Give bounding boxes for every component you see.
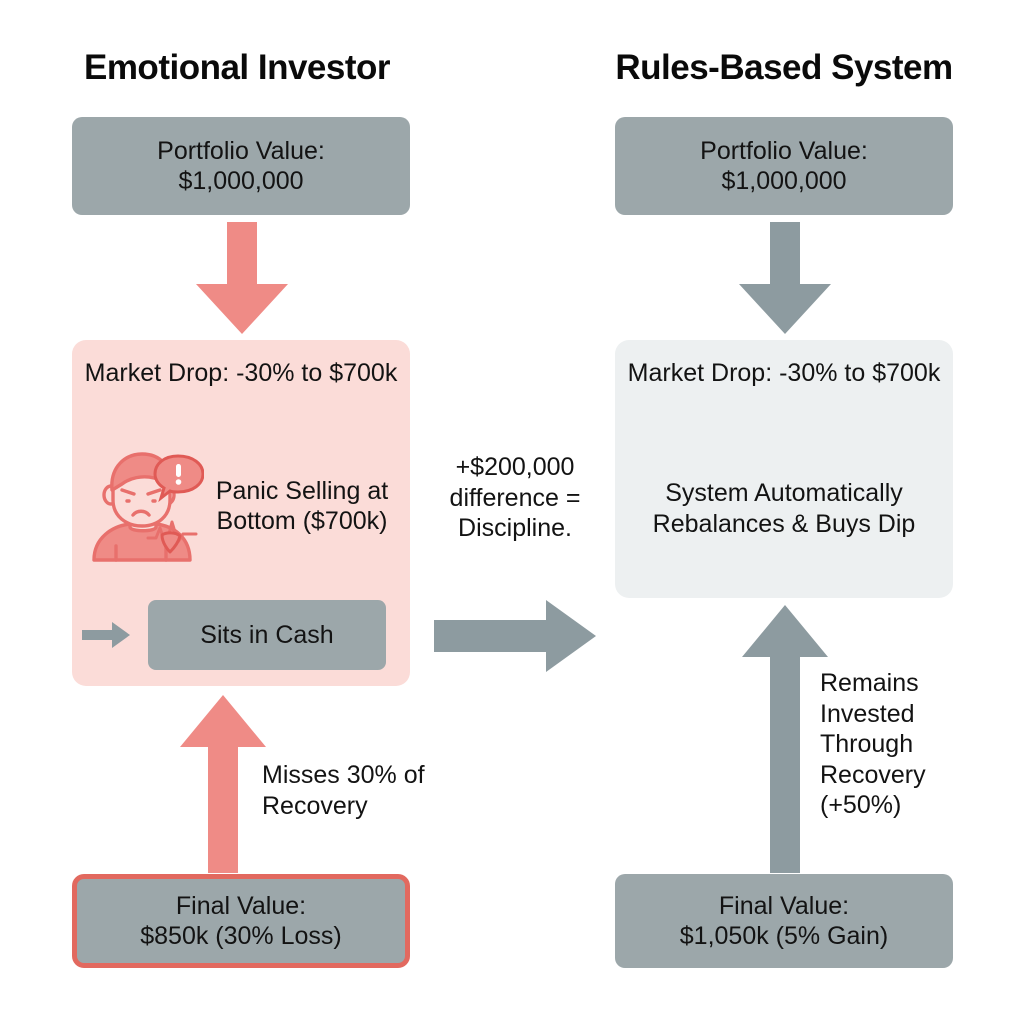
left-portfolio-amount: $1,000,000 bbox=[178, 166, 303, 197]
left-panel-heading-line1: Market Drop: bbox=[85, 359, 229, 387]
right-portfolio-amount: $1,000,000 bbox=[721, 166, 846, 197]
right-panel-body-line1: System Automatically bbox=[665, 479, 903, 507]
right-up-arrow-icon bbox=[742, 605, 828, 873]
worried-person-icon bbox=[86, 450, 204, 562]
column-title-emotional-investor: Emotional Investor bbox=[62, 48, 412, 88]
column-title-rules-based-system: Rules-Based System bbox=[598, 48, 970, 88]
remains-invested-line2: Invested bbox=[820, 700, 915, 728]
remains-invested-line4: Recovery bbox=[820, 761, 926, 789]
left-up-arrow-icon bbox=[180, 695, 266, 873]
left-panel-heading: Market Drop: -30% to $700k bbox=[72, 358, 410, 389]
center-difference-label: +$200,000 difference = Discipline. bbox=[424, 452, 606, 544]
center-right-arrow-icon bbox=[434, 600, 596, 672]
left-portfolio-value-box: Portfolio Value: $1,000,000 bbox=[72, 117, 410, 215]
remains-invested-line1: Remains bbox=[820, 669, 919, 697]
right-final-value-label: Final Value: bbox=[719, 891, 849, 922]
right-panel-heading-line2: -30% to $700k bbox=[779, 359, 940, 387]
panic-line-3: ($700k) bbox=[303, 507, 388, 535]
sits-in-cash-label: Sits in Cash bbox=[200, 620, 333, 651]
right-panel-body-line2: Rebalances & Buys Dip bbox=[653, 510, 916, 538]
remains-invested-label: Remains Invested Through Recovery (+50%) bbox=[820, 668, 960, 821]
diagram-canvas: Emotional Investor Rules-Based System Po… bbox=[0, 0, 1024, 1024]
panic-line-1: Panic Selling bbox=[216, 477, 361, 505]
left-panel-heading-line2: -30% to $700k bbox=[236, 359, 397, 387]
panic-selling-row: Panic Selling at Bottom ($700k) bbox=[86, 450, 396, 562]
left-down-arrow-icon bbox=[196, 222, 288, 334]
right-panel-body: System Automatically Rebalances & Buys D… bbox=[623, 478, 945, 541]
right-panel-heading-line1: Market Drop: bbox=[628, 359, 772, 387]
misses-recovery-line1: Misses 30% bbox=[262, 761, 397, 789]
right-panel-heading: Market Drop: -30% to $700k bbox=[615, 358, 953, 389]
right-scenario-panel: Market Drop: -30% to $700k System Automa… bbox=[615, 340, 953, 598]
sits-in-cash-arrow-icon bbox=[82, 622, 130, 648]
right-down-arrow-icon bbox=[739, 222, 831, 334]
center-difference-line1: +$200,000 bbox=[456, 453, 575, 481]
remains-invested-line5: (+50%) bbox=[820, 791, 901, 819]
right-final-value-amount: $1,050k (5% Gain) bbox=[680, 921, 888, 952]
right-final-value-box: Final Value: $1,050k (5% Gain) bbox=[615, 874, 953, 968]
left-final-value-amount: $850k (30% Loss) bbox=[140, 921, 342, 952]
right-portfolio-label: Portfolio Value: bbox=[700, 136, 868, 167]
remains-invested-line3: Through bbox=[820, 730, 913, 758]
right-portfolio-value-box: Portfolio Value: $1,000,000 bbox=[615, 117, 953, 215]
misses-recovery-label: Misses 30% of Recovery bbox=[262, 760, 442, 821]
panic-selling-label: Panic Selling at Bottom ($700k) bbox=[208, 476, 396, 537]
center-difference-line2: difference bbox=[450, 484, 559, 512]
sits-in-cash-box: Sits in Cash bbox=[148, 600, 386, 670]
left-final-value-label: Final Value: bbox=[176, 891, 306, 922]
left-final-value-box: Final Value: $850k (30% Loss) bbox=[72, 874, 410, 968]
left-portfolio-label: Portfolio Value: bbox=[157, 136, 325, 167]
